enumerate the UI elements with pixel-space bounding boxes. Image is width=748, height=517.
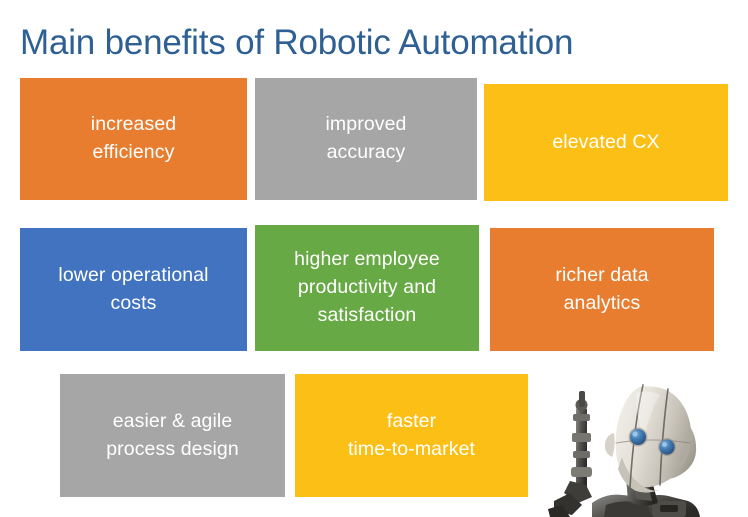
humanoid-robot-illustration <box>548 381 748 517</box>
benefit-tile-label: easier & agileprocess design <box>106 408 239 463</box>
benefit-tile-label: elevated CX <box>552 129 659 157</box>
benefit-tile-label: increasedefficiency <box>91 111 176 166</box>
benefit-tile-faster-time-to-market[interactable]: fastertime-to-market <box>295 374 528 497</box>
benefit-tile-label: higher employeeproductivity andsatisfact… <box>294 246 440 329</box>
benefit-tile-label: improvedaccuracy <box>326 111 407 166</box>
benefit-tile-label: fastertime-to-market <box>348 408 475 463</box>
page-title: Main benefits of Robotic Automation <box>20 19 720 69</box>
robot-head <box>605 385 696 493</box>
robot-torso <box>592 495 700 517</box>
benefit-tile-higher-employee-productivity-and-satisfaction[interactable]: higher employeeproductivity andsatisfact… <box>255 225 479 351</box>
benefit-tile-label: lower operationalcosts <box>58 262 208 317</box>
robot-arm <box>548 391 592 517</box>
benefit-tile-richer-data-analytics[interactable]: richer dataanalytics <box>490 228 714 351</box>
benefit-tile-easier-agile-process-design[interactable]: easier & agileprocess design <box>60 374 285 497</box>
slide-canvas: Main benefits of Robotic Automation incr… <box>0 0 748 517</box>
robot-eye-right <box>658 438 676 456</box>
benefit-tile-improved-accuracy[interactable]: improvedaccuracy <box>255 78 477 200</box>
robot-eye-left <box>629 428 648 447</box>
benefit-tile-label: richer dataanalytics <box>555 262 648 317</box>
benefit-tile-increased-efficiency[interactable]: increasedefficiency <box>20 78 247 200</box>
robot-neck <box>626 477 658 506</box>
benefit-tile-lower-operational-costs[interactable]: lower operationalcosts <box>20 228 247 351</box>
benefit-tile-elevated-cx[interactable]: elevated CX <box>484 84 728 201</box>
